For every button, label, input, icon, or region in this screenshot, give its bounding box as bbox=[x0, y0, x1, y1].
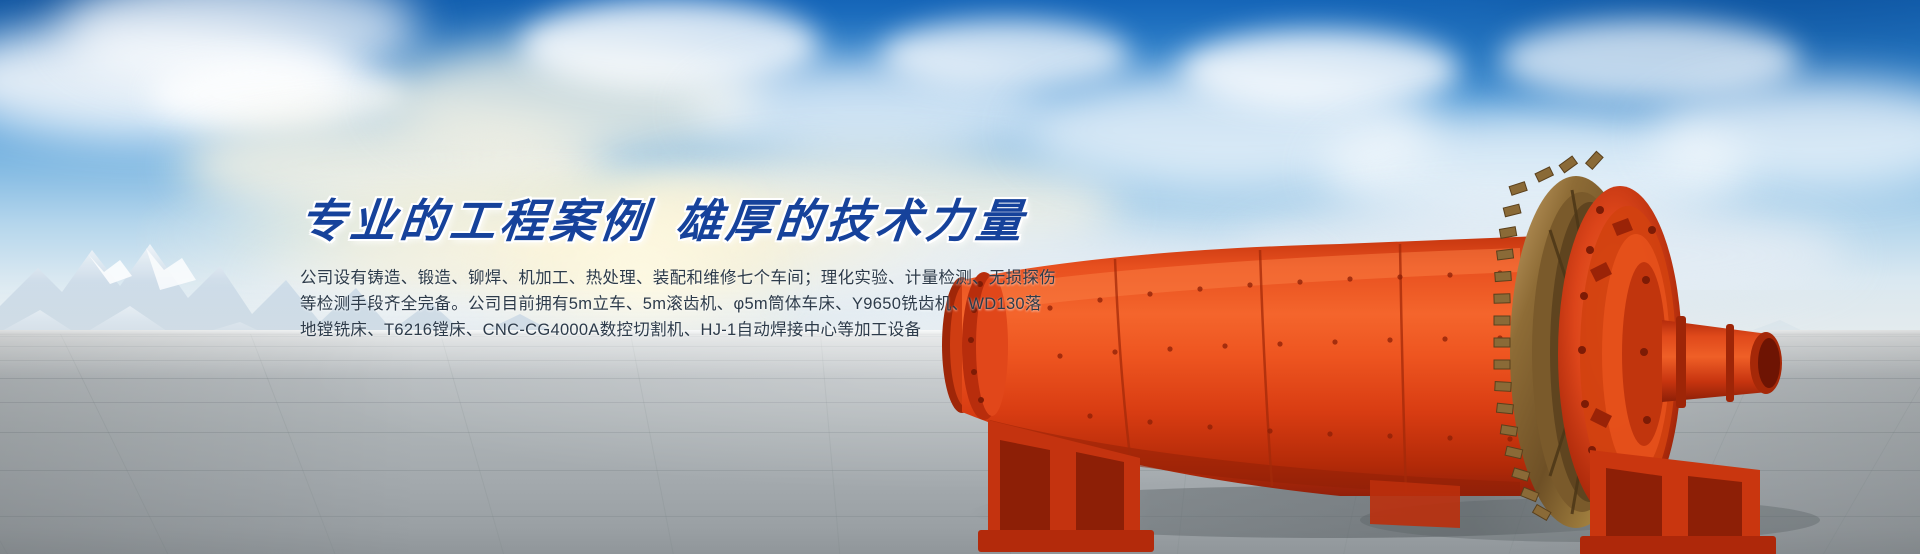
banner-headline: 专业的工程案例雄厚的技术力量 bbox=[297, 196, 1182, 248]
headline-part-1: 专业的工程案例 bbox=[297, 194, 653, 248]
paragraph-line-1: 公司设有铸造、锻造、铆焊、机加工、热处理、装配和维修七个车间；理化实验、计量检测… bbox=[300, 266, 1180, 290]
headline-part-2: 雄厚的技术力量 bbox=[673, 194, 1029, 248]
hero-banner: 专业的工程案例雄厚的技术力量 公司设有铸造、锻造、铆焊、机加工、热处理、装配和维… bbox=[0, 0, 1920, 554]
paragraph-line-3: 地镗铣床、T6216镗床、CNC-CG4000A数控切割机、HJ-1自动焊接中心… bbox=[300, 318, 1180, 342]
paragraph-line-2: 等检测手段齐全完备。公司目前拥有5m立车、5m滚齿机、φ5m筒体车床、Y9650… bbox=[300, 292, 1180, 316]
banner-text-block: 专业的工程案例雄厚的技术力量 公司设有铸造、锻造、铆焊、机加工、热处理、装配和维… bbox=[300, 196, 1180, 344]
banner-paragraph: 公司设有铸造、锻造、铆焊、机加工、热处理、装配和维修七个车间；理化实验、计量检测… bbox=[300, 266, 1180, 342]
